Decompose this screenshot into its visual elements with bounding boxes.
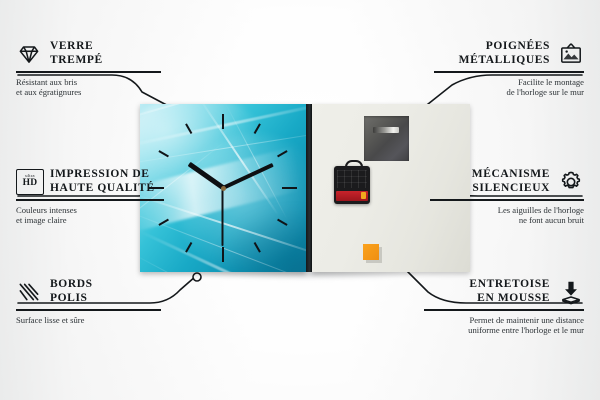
callout-mecanisme-silencieux: MÉCANISME SILENCIEUX Les aiguilles de l'… [430, 168, 584, 226]
callout-subtitle-line1: Couleurs intenses [16, 205, 77, 215]
callout-title-line2: HAUTE QUALITÉ [50, 182, 155, 194]
press-down-icon [558, 279, 584, 305]
metal-hanger-plate [364, 116, 409, 161]
callout-title-line2: MÉTALLIQUES [459, 54, 550, 66]
callout-title-line1: ENTRETOISE [469, 278, 550, 290]
callout-entretoise-en-mousse: ENTRETOISE EN MOUSSE Permet de maintenir… [424, 278, 584, 336]
ultra-hd-icon-large-text: HD [23, 179, 38, 189]
callout-subtitle-line1: Permet de maintenir une distance [469, 315, 584, 325]
callout-bords-polis: BORDS POLIS Surface lisse et sûre [16, 278, 166, 325]
callout-title-line1: POIGNÉES [486, 40, 550, 52]
callout-rule [430, 199, 584, 201]
product-image [140, 104, 470, 276]
callout-rule [434, 71, 584, 73]
callout-rule [16, 71, 161, 73]
ultra-hd-icon: ultra HD [16, 169, 42, 195]
clock-center-pin [221, 186, 226, 191]
battery [336, 191, 368, 201]
gear-icon [558, 169, 584, 195]
callout-rule [16, 309, 161, 311]
callout-subtitle-line2: uniforme entre l'horloge et le mur [468, 325, 584, 335]
hanger-slot [373, 127, 399, 133]
callout-title-line2: SILENCIEUX [472, 182, 550, 194]
callout-subtitle-line2: et image claire [16, 215, 67, 225]
callout-title-line1: VERRE [50, 40, 93, 52]
callout-subtitle-line1: Résistant aux bris [16, 77, 77, 87]
callout-title-line2: POLIS [50, 292, 88, 304]
diagonal-lines-icon [16, 279, 42, 305]
callout-subtitle-line2: ne font aucun bruit [519, 215, 584, 225]
movement-grid [337, 170, 367, 188]
callout-rule [16, 199, 164, 201]
quartz-movement [334, 166, 370, 204]
callout-title-line2: EN MOUSSE [477, 292, 550, 304]
callout-subtitle-line2: et aux égratignures [16, 87, 81, 97]
diamond-icon [16, 41, 42, 67]
callout-rule [424, 309, 584, 311]
callout-subtitle-line1: Facilite le montage [518, 77, 584, 87]
callout-title-line1: BORDS [50, 278, 93, 290]
callout-title-line2: TREMPÉ [50, 54, 103, 66]
callout-poignees-metalliques: POIGNÉES MÉTALLIQUES Facilite le montage… [434, 40, 584, 98]
callout-impression-haute-qualite: ultra HD IMPRESSION DE HAUTE QUALITÉ Cou… [16, 168, 168, 226]
callout-subtitle-line1: Surface lisse et sûre [16, 315, 85, 325]
infographic-canvas: VERRE TREMPÉ Résistant aux bris et aux é… [0, 0, 600, 400]
foam-spacer [363, 244, 379, 260]
callout-title-line1: MÉCANISME [472, 168, 550, 180]
callout-subtitle-line1: Les aiguilles de l'horloge [498, 205, 584, 215]
picture-hanger-icon [558, 41, 584, 67]
callout-verre-trempe: VERRE TREMPÉ Résistant aux bris et aux é… [16, 40, 166, 98]
callout-subtitle-line2: de l'horloge sur le mur [507, 87, 584, 97]
callout-title-line1: IMPRESSION DE [50, 168, 150, 180]
clock-hour-hand [187, 162, 224, 190]
